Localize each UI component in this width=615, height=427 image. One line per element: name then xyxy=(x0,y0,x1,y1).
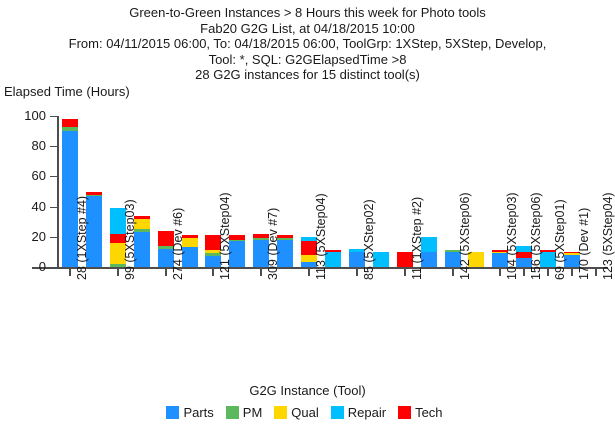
x-axis-label-14: 11 (1XStep #2) xyxy=(410,197,424,280)
x-tick-0 xyxy=(69,269,71,276)
y-tick-label-80: 80 xyxy=(0,138,46,153)
x-axis-label-21: 170 (Dev #1) xyxy=(577,208,591,280)
x-tick-10 xyxy=(308,269,310,276)
y-tick-label-60: 60 xyxy=(0,168,46,183)
x-tick-20 xyxy=(547,269,549,276)
x-axis-label-16: 142 (5XStep06) xyxy=(458,192,472,280)
title-line-3: From: 04/11/2015 06:00, To: 04/18/2015 0… xyxy=(0,36,615,52)
x-tick-14 xyxy=(404,269,406,276)
y-tick-80 xyxy=(50,146,58,147)
x-tick-8 xyxy=(260,269,262,276)
legend-label: PM xyxy=(243,405,263,420)
x-axis-label-10: 113 (5XStep04) xyxy=(314,193,328,280)
legend-label: Qual xyxy=(291,405,318,420)
x-tick-19 xyxy=(523,269,525,276)
x-tick-22 xyxy=(595,269,597,276)
y-tick-20 xyxy=(50,237,58,238)
legend-item-tech[interactable]: Tech xyxy=(398,405,442,420)
legend-label: Tech xyxy=(415,405,442,420)
x-axis-label-6: 121 (5XStep04) xyxy=(218,192,232,280)
x-tick-6 xyxy=(212,269,214,276)
x-axis-label-22: 123 (5XStep04) xyxy=(601,192,615,280)
x-tick-12 xyxy=(356,269,358,276)
y-tick-label-0: 0 xyxy=(0,259,46,274)
legend-label: Repair xyxy=(348,405,386,420)
x-axis-label-0: 28 (1XStep #4) xyxy=(75,196,89,280)
y-tick-40 xyxy=(50,207,58,208)
x-tick-4 xyxy=(165,269,167,276)
title-line-5: 28 G2G instances for 15 distinct tool(s) xyxy=(0,67,615,83)
x-axis-label-8: 309 (Dev #7) xyxy=(266,208,280,280)
y-tick-0 xyxy=(50,267,58,268)
chart-legend: PartsPMQualRepairTech xyxy=(0,405,615,420)
chart-plot-region: 020406080100 28 (1XStep #4)99 (5XStep03)… xyxy=(0,100,615,390)
legend-swatch-pm xyxy=(226,406,239,419)
legend-item-parts[interactable]: Parts xyxy=(166,405,213,420)
x-tick-16 xyxy=(452,269,454,276)
x-axis-label-20: 69 (5XStep01) xyxy=(553,199,567,280)
legend-swatch-parts xyxy=(166,406,179,419)
legend-item-repair[interactable]: Repair xyxy=(331,405,386,420)
x-tick-18 xyxy=(499,269,501,276)
y-tick-label-100: 100 xyxy=(0,108,46,123)
x-axis-label-19: 156 (5XStep06) xyxy=(529,192,543,280)
title-line-1: Green-to-Green Instances > 8 Hours this … xyxy=(0,5,615,21)
x-axis-title: G2G Instance (Tool) xyxy=(0,383,615,398)
y-axis-title: Elapsed Time (Hours) xyxy=(4,84,130,99)
x-axis-label-4: 274 (Dev #6) xyxy=(171,208,185,280)
x-axis-label-12: 85 (5XStep02) xyxy=(362,199,376,280)
bars-container xyxy=(58,116,608,267)
y-tick-100 xyxy=(50,116,58,117)
x-axis-label-2: 99 (5XStep03) xyxy=(123,199,137,280)
x-tick-21 xyxy=(571,269,573,276)
x-tick-2 xyxy=(117,269,119,276)
legend-swatch-repair xyxy=(331,406,344,419)
y-tick-60 xyxy=(50,176,58,177)
x-axis-label-18: 104 (5XStep03) xyxy=(505,192,519,280)
legend-label: Parts xyxy=(183,405,213,420)
y-tick-label-40: 40 xyxy=(0,199,46,214)
title-line-2: Fab20 G2G List, at 04/18/2015 10:00 xyxy=(0,21,615,37)
bar-segment-tech xyxy=(62,119,78,127)
chart-title-block: Green-to-Green Instances > 8 Hours this … xyxy=(0,0,615,83)
legend-swatch-qual xyxy=(274,406,287,419)
title-line-4: Tool: *, SQL: G2GElapsedTime >8 xyxy=(0,52,615,68)
legend-item-pm[interactable]: PM xyxy=(226,405,263,420)
legend-swatch-tech xyxy=(398,406,411,419)
legend-item-qual[interactable]: Qual xyxy=(274,405,318,420)
y-tick-label-20: 20 xyxy=(0,229,46,244)
